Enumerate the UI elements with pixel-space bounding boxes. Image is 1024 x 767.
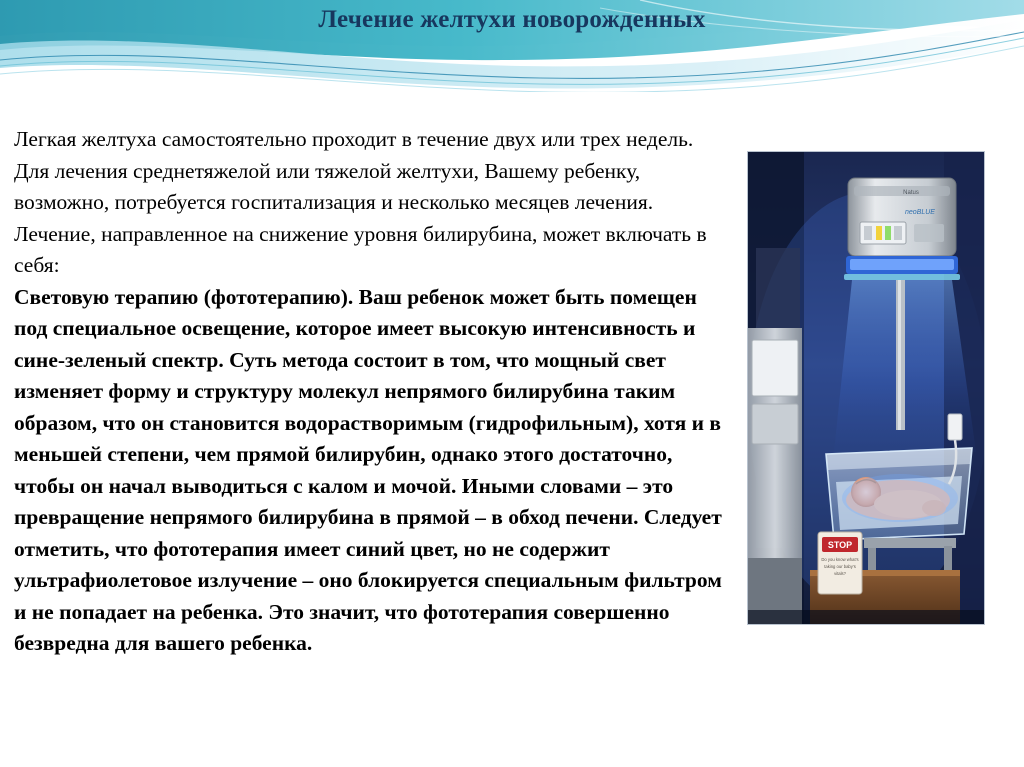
photo-illustration: Natus neoBLUE — [748, 152, 984, 624]
svg-text:STOP: STOP — [828, 540, 852, 550]
svg-text:neoBLUE: neoBLUE — [905, 209, 935, 216]
slide-body: Легкая желтуха самостоятельно проходит в… — [14, 124, 730, 660]
svg-text:vitals?: vitals? — [834, 571, 847, 576]
paragraph-treatment-intro: Лечение, направленное на снижение уровня… — [14, 219, 730, 282]
phototherapy-text: Ваш ребенок может быть помещен под специ… — [14, 285, 722, 656]
svg-text:Natus: Natus — [903, 190, 919, 196]
svg-text:Do you know what’s: Do you know what’s — [821, 557, 858, 562]
svg-text:taking our baby’s: taking our baby’s — [824, 564, 856, 569]
phototherapy-photo: Natus neoBLUE — [748, 152, 984, 624]
paragraph-intro: Легкая желтуха самостоятельно проходит в… — [14, 124, 730, 219]
page-title: Лечение желтухи новорожденных — [0, 6, 1024, 34]
slide-header: Лечение желтухи новорожденных — [0, 0, 1024, 92]
phototherapy-lead: Световую терапию (фототерапию). — [14, 285, 353, 309]
paragraph-phototherapy: Световую терапию (фототерапию). Ваш ребе… — [14, 282, 730, 660]
